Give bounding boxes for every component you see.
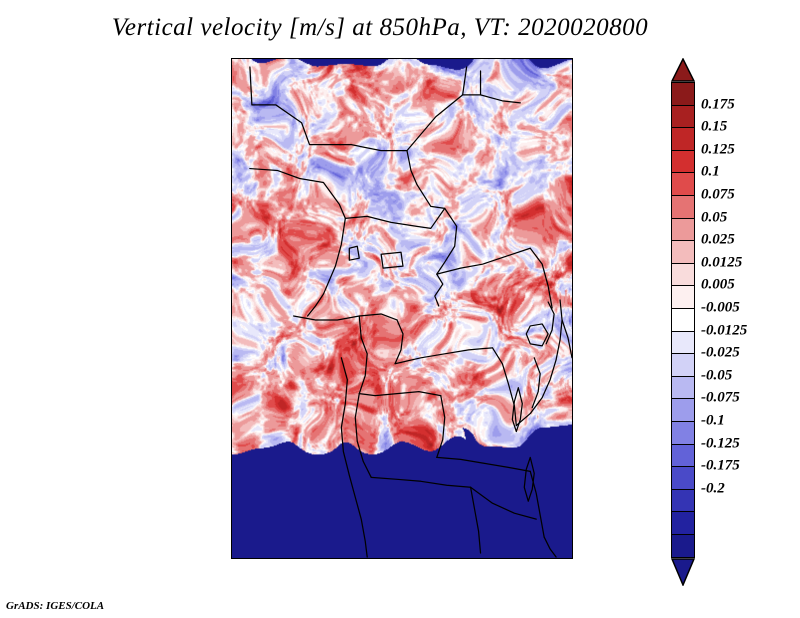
colorbar-band xyxy=(671,150,695,174)
colorbar-band xyxy=(671,263,695,287)
colorbar-tick-label: -0.05 xyxy=(701,367,732,384)
colorbar-band xyxy=(671,127,695,151)
xtick-18E xyxy=(419,558,420,559)
xtick-27E xyxy=(512,558,513,559)
colorbar-band xyxy=(671,534,695,558)
colorbar-tick-label: -0.025 xyxy=(701,345,740,362)
colorbar-tick-label: 0.1 xyxy=(701,164,720,181)
map-plot-panel: 20N 15N 10N 5N EQ 5S 10S 15S 3E 6E 9E 12… xyxy=(231,58,573,559)
colorbar-tick-label: -0.005 xyxy=(701,300,740,317)
colorbar-band xyxy=(671,511,695,535)
credit-text: GrADS: IGES/COLA xyxy=(6,600,104,612)
xtick-3E xyxy=(263,558,264,559)
colorbar-tick-label: -0.2 xyxy=(701,480,725,497)
colorbar-band xyxy=(671,444,695,468)
colorbar-band xyxy=(671,285,695,309)
colorbar-band xyxy=(671,353,695,377)
colorbar-tick-label: -0.1 xyxy=(701,413,725,430)
colorbar-tick-label: -0.075 xyxy=(701,390,740,407)
colorbar-band xyxy=(671,172,695,196)
xtick-30E xyxy=(543,558,544,559)
country-borders-overlay xyxy=(232,59,572,558)
colorbar-tick-label: 0.175 xyxy=(701,96,735,113)
xtick-24E xyxy=(481,558,482,559)
colorbar-band xyxy=(671,105,695,129)
colorbar-band xyxy=(671,376,695,400)
colorbar-band xyxy=(671,421,695,445)
colorbar-tick-label: -0.0125 xyxy=(701,322,747,339)
colorbar-extend-max-arrow xyxy=(671,58,695,82)
page-title: Vertical velocity [m/s] at 850hPa, VT: 2… xyxy=(0,14,760,42)
xtick-6E xyxy=(294,558,295,559)
colorbar-tick-label: 0.15 xyxy=(701,119,727,136)
colorbar-band xyxy=(671,466,695,490)
colorbar-band xyxy=(671,240,695,264)
xtick-21E xyxy=(450,558,451,559)
colorbar-tick-label: 0.05 xyxy=(701,209,727,226)
colorbar-tick-label: 0.005 xyxy=(701,277,735,294)
colorbar-band xyxy=(671,331,695,355)
colorbar-tick-label: 0.025 xyxy=(701,232,735,249)
colorbar-tick-label: 0.125 xyxy=(701,141,735,158)
colorbar-extend-min-arrow xyxy=(671,558,695,586)
xtick-12E xyxy=(356,558,357,559)
colorbar: 0.1750.150.1250.10.0750.050.0250.01250.0… xyxy=(671,58,800,563)
colorbar-band xyxy=(671,218,695,242)
xtick-15E xyxy=(388,558,389,559)
colorbar-band xyxy=(671,398,695,422)
xtick-9E xyxy=(325,558,326,559)
colorbar-tick-label: 0.075 xyxy=(701,187,735,204)
colorbar-band xyxy=(671,195,695,219)
colorbar-band xyxy=(671,308,695,332)
colorbar-band xyxy=(671,489,695,513)
colorbar-band xyxy=(671,82,695,106)
colorbar-tick-label: 0.0125 xyxy=(701,254,742,271)
colorbar-tick-label: -0.175 xyxy=(701,458,740,475)
colorbar-tick-label: -0.125 xyxy=(701,435,740,452)
